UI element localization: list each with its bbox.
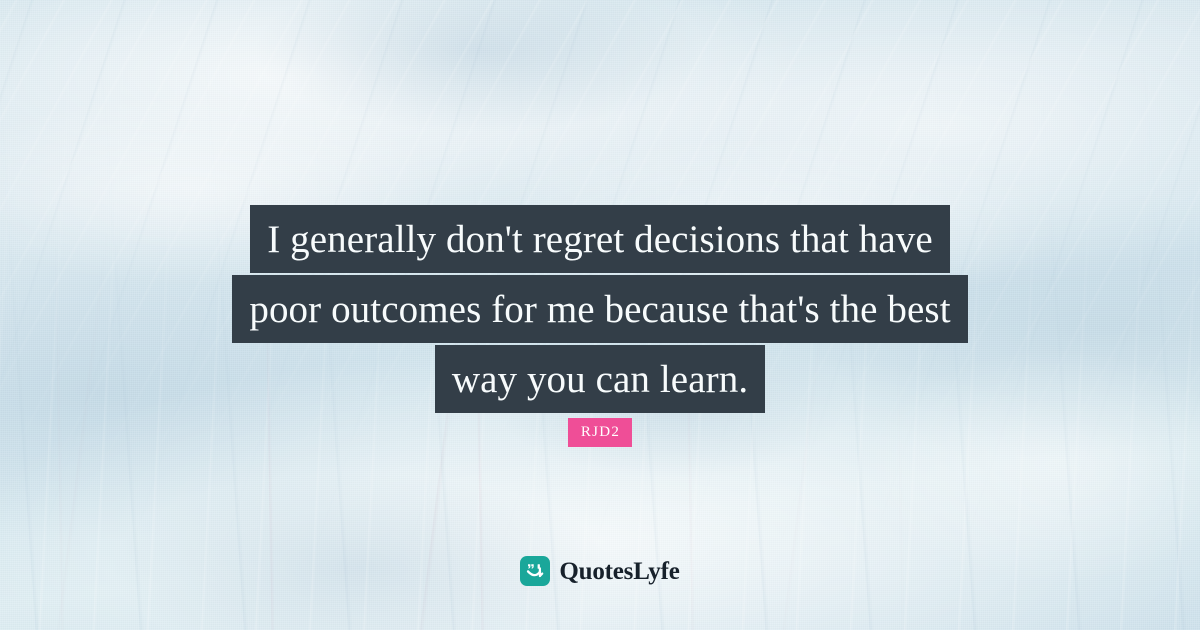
brand-name: QuotesLyfe [559, 559, 679, 584]
author-name-badge[interactable]: RJD2 [568, 418, 632, 447]
quote-text-block: I generally don't regret decisions that … [0, 205, 1200, 413]
quote-line-2: poor outcomes for me because that's the … [232, 275, 967, 343]
brand-footer[interactable]: QuotesLyfe [0, 556, 1200, 586]
quote-line-1: I generally don't regret decisions that … [250, 205, 950, 273]
quote-line-3: way you can learn. [435, 345, 765, 413]
author-attribution: RJD2 [0, 418, 1200, 447]
quotes-smiley-logo-icon [520, 556, 550, 586]
quote-card: I generally don't regret decisions that … [0, 0, 1200, 630]
